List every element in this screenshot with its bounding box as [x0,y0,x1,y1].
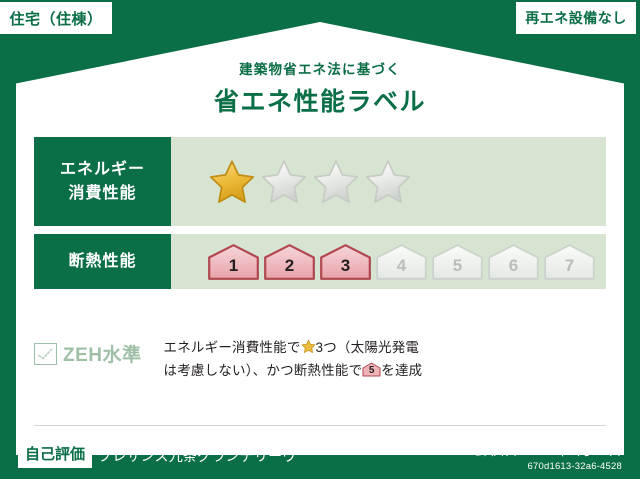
zeh-description-part1: エネルギー消費性能で [164,340,301,355]
energy-consumption-value [171,137,606,226]
insulation-level-inactive: 4 [375,243,428,281]
zeh-standard-block: ZEH水準 エネルギー消費性能で 3つ（太陽光発電 は考慮しない）、かつ断熱性能… [34,336,612,382]
insulation-performance-value: 1234567 [171,234,606,289]
insulation-level-number: 7 [543,253,596,279]
insulation-level-number: 1 [207,253,260,279]
insulation-level-number: 5 [431,253,484,279]
insulation-performance-header-line1: 断熱性能 [68,250,136,273]
energy-performance-label: 住宅（住棟） 再エネ設備なし 建築物省エネ法に基づく 省エネ性能ラベル エネルギ… [0,0,640,479]
insulation-level-inactive: 5 [431,243,484,281]
zeh-checkbox-icon [34,343,57,365]
star-empty-icon [260,159,308,205]
property-name: プレサンス九条グランデリーヴ [98,446,297,466]
insulation-level-inactive: 7 [543,243,596,281]
label-title: 省エネ性能ラベル [0,82,640,118]
star-empty-icon [312,159,360,205]
energy-consumption-header-line2: 消費性能 [68,182,136,205]
evaluation-meta: 評価日 2025年2月17日 670d1613-32a6-4528 [475,440,622,472]
zeh-description-part2: 3つ（太陽光発電 [316,340,420,355]
insulation-level-achieved: 1 [207,243,260,281]
insulation-level-number: 4 [375,253,428,279]
insulation-level-achieved: 2 [263,243,316,281]
insulation-level-number: 6 [487,253,540,279]
insulation-performance-header: 断熱性能 [34,234,171,289]
inline-star-icon [301,338,316,353]
evaluation-type-badge: 自己評価 [18,443,92,468]
energy-consumption-row: エネルギー 消費性能 [34,137,606,226]
inline-house-level-icon: 5 [362,362,381,377]
star-rating [171,159,412,205]
evaluation-id: 670d1613-32a6-4528 [475,461,622,472]
energy-consumption-header: エネルギー 消費性能 [34,137,171,226]
insulation-performance-row: 断熱性能 1234567 [34,234,606,289]
label-subtitle: 建築物省エネ法に基づく [0,58,640,78]
zeh-label: ZEH水準 [63,340,142,367]
insulation-level-scale: 1234567 [171,243,596,281]
evaluation-date: 評価日 2025年2月17日 [475,440,622,460]
zeh-mark: ZEH水準 [34,336,142,367]
star-empty-icon [364,159,412,205]
insulation-level-number: 3 [319,253,372,279]
zeh-description: エネルギー消費性能で 3つ（太陽光発電 は考慮しない）、かつ断熱性能で 5 を達… [164,336,423,382]
insulation-level-achieved: 3 [319,243,372,281]
building-type-badge: 住宅（住棟） [0,2,112,34]
footer: 自己評価 プレサンス九条グランデリーヴ 評価日 2025年2月17日 670d1… [0,432,640,479]
zeh-description-part3: は考慮しない）、かつ断熱性能で [164,363,363,378]
energy-consumption-header-line1: エネルギー [60,158,145,181]
label-title-block: 建築物省エネ法に基づく 省エネ性能ラベル [0,58,640,118]
insulation-level-inactive: 6 [487,243,540,281]
insulation-level-number: 2 [263,253,316,279]
star-filled-icon [208,159,256,205]
zeh-description-part4: を達成 [381,363,422,378]
footer-divider [34,425,606,426]
metric-rows: エネルギー 消費性能 断熱性能 1234567 [34,137,606,297]
inline-house-level-number: 5 [362,362,381,377]
renewable-energy-badge: 再エネ設備なし [516,2,636,34]
